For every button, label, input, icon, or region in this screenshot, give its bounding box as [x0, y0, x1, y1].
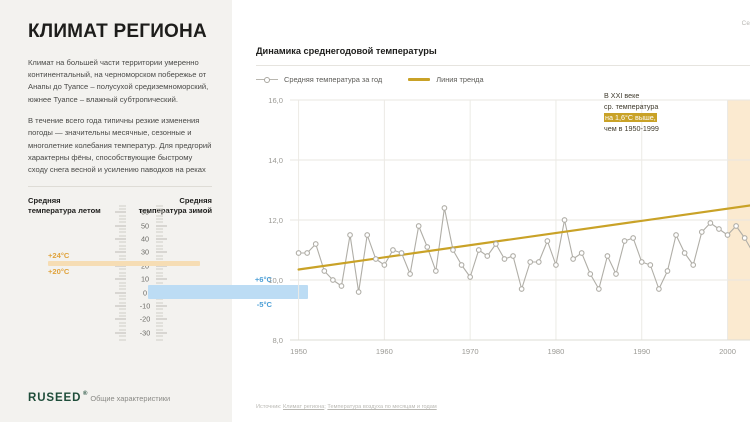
data-point-marker	[597, 287, 602, 292]
thermo-tick	[119, 205, 126, 206]
data-point-marker	[365, 233, 370, 238]
thermo-tick	[156, 272, 163, 273]
right-panel: Сельскохозяйственный обзор региона | Кра…	[232, 0, 750, 422]
data-point-marker	[451, 248, 456, 253]
thermo-tick	[156, 255, 163, 256]
thermo-tick	[115, 292, 126, 293]
x-axis-tick-label: 1990	[633, 347, 650, 356]
data-point-marker	[382, 263, 387, 268]
thermo-tick	[119, 255, 126, 256]
top-bar: Сельскохозяйственный обзор региона | Кра…	[256, 16, 750, 30]
data-point-marker	[416, 224, 421, 229]
thermo-tick	[156, 302, 163, 303]
x-axis-tick-label: 1980	[547, 347, 564, 356]
thermo-tick	[156, 329, 163, 330]
circle-line-marker-icon	[256, 75, 278, 84]
legend-label-average: Средняя температура за год	[284, 75, 382, 84]
chart-legend: Средняя температура за год Линия тренда	[256, 75, 750, 84]
thermo-scale-label: 10	[134, 275, 156, 284]
thermo-tick	[156, 332, 167, 333]
data-point-marker	[476, 248, 481, 253]
thermo-tick	[119, 208, 126, 209]
thermo-tick	[119, 218, 126, 219]
data-point-marker	[485, 254, 490, 259]
brand-subtitle: Общие характеристики	[90, 394, 170, 403]
summer-heading: Средняя температура летом	[28, 196, 102, 217]
trend-line	[299, 180, 750, 270]
thermo-tick	[156, 269, 163, 270]
thermo-tick	[119, 329, 126, 330]
data-point-marker	[511, 254, 516, 259]
thermo-tick	[119, 309, 126, 310]
y-axis-tick-label: 8,0	[272, 336, 283, 345]
thermo-tick	[156, 232, 163, 233]
thermo-tick	[119, 232, 126, 233]
data-point-marker	[734, 224, 739, 229]
data-point-marker	[391, 248, 396, 253]
legend-label-trend: Линия тренда	[436, 75, 483, 84]
annotation-line-1: В XXI веке	[604, 90, 696, 101]
data-point-marker	[554, 263, 559, 268]
thermo-tick	[119, 222, 126, 223]
data-point-marker	[442, 206, 447, 211]
thermo-tick	[156, 245, 163, 246]
thermo-tick	[156, 336, 163, 337]
data-point-marker	[494, 242, 499, 247]
thermo-tick	[119, 289, 126, 290]
thermo-tick	[119, 259, 126, 260]
data-point-marker	[339, 284, 344, 289]
y-axis-tick-label: 10,0	[268, 276, 283, 285]
data-point-marker	[468, 275, 473, 280]
thermo-tick	[156, 282, 163, 283]
thermo-tick	[156, 205, 163, 206]
data-point-marker	[682, 251, 687, 256]
thermo-tick	[115, 252, 126, 253]
thermo-tick	[119, 316, 126, 317]
thermo-tick	[156, 326, 163, 327]
data-point-marker	[588, 272, 593, 277]
thermo-tick	[156, 239, 167, 240]
data-point-marker	[519, 287, 524, 292]
data-point-marker	[356, 290, 361, 295]
thermo-tick	[156, 212, 167, 213]
thermo-tick	[119, 272, 126, 273]
data-point-marker	[348, 233, 353, 238]
annotation-box: В XXI веке ср. температура на 1,6°С выше…	[604, 90, 696, 135]
thermo-tick	[119, 296, 126, 297]
data-point-marker	[622, 239, 627, 244]
breadcrumb: Сельскохозяйственный обзор региона | Кра…	[742, 20, 750, 27]
thermo-scale-label: 30	[134, 248, 156, 257]
thermo-tick	[156, 309, 163, 310]
brand-registered-mark: ®	[83, 391, 88, 397]
summer-low-label: +20°C	[48, 267, 69, 276]
thermo-tick	[156, 252, 167, 253]
thermo-tick	[115, 306, 126, 307]
data-point-marker	[605, 254, 610, 259]
data-point-marker	[648, 263, 653, 268]
thermo-scale-label: -10	[134, 302, 156, 311]
data-point-marker	[425, 245, 430, 250]
data-point-marker	[699, 230, 704, 235]
thermo-tick	[156, 259, 163, 260]
data-point-marker	[408, 272, 413, 277]
data-point-marker	[313, 242, 318, 247]
thermo-tick	[156, 218, 163, 219]
source-note: Источник: Климат региона; Температура во…	[256, 404, 437, 410]
data-point-marker	[545, 239, 550, 244]
thermo-tick	[119, 339, 126, 340]
thermometer-scale: 6050403020100-10-20-30+24°C+20°C+6°C-5°C	[114, 190, 170, 350]
thermo-tick	[156, 242, 163, 243]
x-axis-tick-label: 1970	[462, 347, 479, 356]
data-point-marker	[562, 218, 567, 223]
thermo-tick	[119, 242, 126, 243]
source-link-2[interactable]: Температура воздуха по месяцам и годам	[327, 404, 436, 410]
thermo-tick	[119, 215, 126, 216]
y-axis-tick-label: 12,0	[268, 216, 283, 225]
summer-high-label: +24°C	[48, 251, 69, 260]
thermo-tick	[156, 222, 163, 223]
slide: КЛИМАТ РЕГИОНА Климат на большей части т…	[0, 0, 750, 422]
thermo-tick	[119, 299, 126, 300]
thermo-scale-label: -30	[134, 328, 156, 337]
thermo-tick	[119, 326, 126, 327]
data-point-marker	[373, 257, 378, 262]
data-point-marker	[502, 257, 507, 262]
y-axis-tick-label: 16,0	[268, 96, 283, 105]
chart-title-divider	[256, 65, 750, 66]
data-point-marker	[725, 233, 730, 238]
thermo-scale-label: 40	[134, 235, 156, 244]
data-point-marker	[571, 257, 576, 262]
data-point-marker	[631, 236, 636, 241]
source-prefix: Источник:	[256, 404, 283, 410]
thermo-tick	[119, 249, 126, 250]
thermo-tick	[119, 235, 126, 236]
data-point-marker	[717, 227, 722, 232]
thermo-tick	[156, 275, 163, 276]
thermo-tick	[119, 269, 126, 270]
thermo-tick	[119, 275, 126, 276]
thermo-tick	[119, 336, 126, 337]
intro-paragraph-1: Климат на большей части территории умере…	[28, 57, 212, 106]
page-title: КЛИМАТ РЕГИОНА	[28, 22, 212, 43]
thermo-tick	[156, 339, 163, 340]
thermo-scale-label: 60	[134, 208, 156, 217]
thermo-tick	[156, 322, 163, 323]
thermo-tick	[156, 316, 163, 317]
thermo-tick	[119, 229, 126, 230]
data-point-marker	[305, 251, 310, 256]
data-point-marker	[399, 251, 404, 256]
summer-temperature-bar	[48, 261, 200, 266]
thermo-tick	[156, 319, 167, 320]
thermo-tick	[119, 285, 126, 286]
data-point-marker	[296, 251, 301, 256]
source-link-1[interactable]: Климат региона	[283, 404, 324, 410]
data-point-marker	[536, 260, 541, 265]
thermo-tick	[156, 225, 167, 226]
thermo-tick	[119, 282, 126, 283]
data-point-marker	[691, 263, 696, 268]
data-point-marker	[639, 260, 644, 265]
left-divider	[28, 186, 212, 187]
summer-column: Средняя температура летом	[28, 196, 102, 217]
data-point-marker	[459, 263, 464, 268]
thermo-tick	[156, 215, 163, 216]
thermo-tick	[115, 225, 126, 226]
thermo-tick	[156, 229, 163, 230]
legend-item-trend[interactable]: Линия тренда	[408, 75, 483, 84]
thermo-scale-label: 50	[134, 221, 156, 230]
x-axis-tick-label: 1950	[290, 347, 307, 356]
thermo-tick	[115, 332, 126, 333]
data-point-marker	[742, 236, 747, 241]
data-point-marker	[331, 278, 336, 283]
annotation-line-4: чем в 1950-1999	[604, 123, 696, 134]
chart-plot-area: 8,010,012,014,016,0195019601970198019902…	[256, 94, 750, 362]
annotation-highlight: на 1,6°С выше,	[604, 113, 657, 122]
data-point-marker	[657, 287, 662, 292]
thermo-tick	[115, 319, 126, 320]
chart-title: Динамика среднегодовой температуры	[256, 46, 750, 56]
data-point-marker	[665, 269, 670, 274]
thermo-tick	[156, 306, 167, 307]
data-point-marker	[322, 269, 327, 274]
data-point-marker	[674, 233, 679, 238]
thermo-tick	[115, 239, 126, 240]
thermo-tick	[156, 279, 167, 280]
thermo-tick	[119, 302, 126, 303]
intro-paragraph-2: В течение всего года типичны резкие изме…	[28, 115, 212, 176]
thermo-tick	[156, 312, 163, 313]
data-point-marker	[528, 260, 533, 265]
data-point-marker	[434, 269, 439, 274]
thermo-tick	[115, 212, 126, 213]
thermo-tick	[156, 235, 163, 236]
brand-logo: RUSEED® Общие характеристики	[28, 392, 170, 404]
thermo-tick	[119, 245, 126, 246]
thermo-tick	[156, 208, 163, 209]
left-panel: КЛИМАТ РЕГИОНА Климат на большей части т…	[0, 0, 232, 422]
thermo-tick	[156, 249, 163, 250]
thermo-tick	[119, 312, 126, 313]
x-axis-tick-label: 2000	[719, 347, 736, 356]
annotation-line-2: ср. температура	[604, 101, 696, 112]
brand-text: RUSEED	[28, 392, 81, 404]
line-marker-icon	[408, 78, 430, 80]
thermo-tick	[119, 322, 126, 323]
legend-item-average[interactable]: Средняя температура за год	[256, 75, 382, 84]
y-axis-tick-label: 14,0	[268, 156, 283, 165]
thermo-tick	[115, 279, 126, 280]
data-point-marker	[579, 251, 584, 256]
thermo-scale-label: -20	[134, 315, 156, 324]
data-point-marker	[708, 221, 713, 226]
temperature-comparison: Средняя температура летом Средняя темпер…	[28, 196, 212, 356]
brand-name: RUSEED®	[28, 392, 81, 404]
data-point-marker	[614, 272, 619, 277]
x-axis-tick-label: 1960	[376, 347, 393, 356]
